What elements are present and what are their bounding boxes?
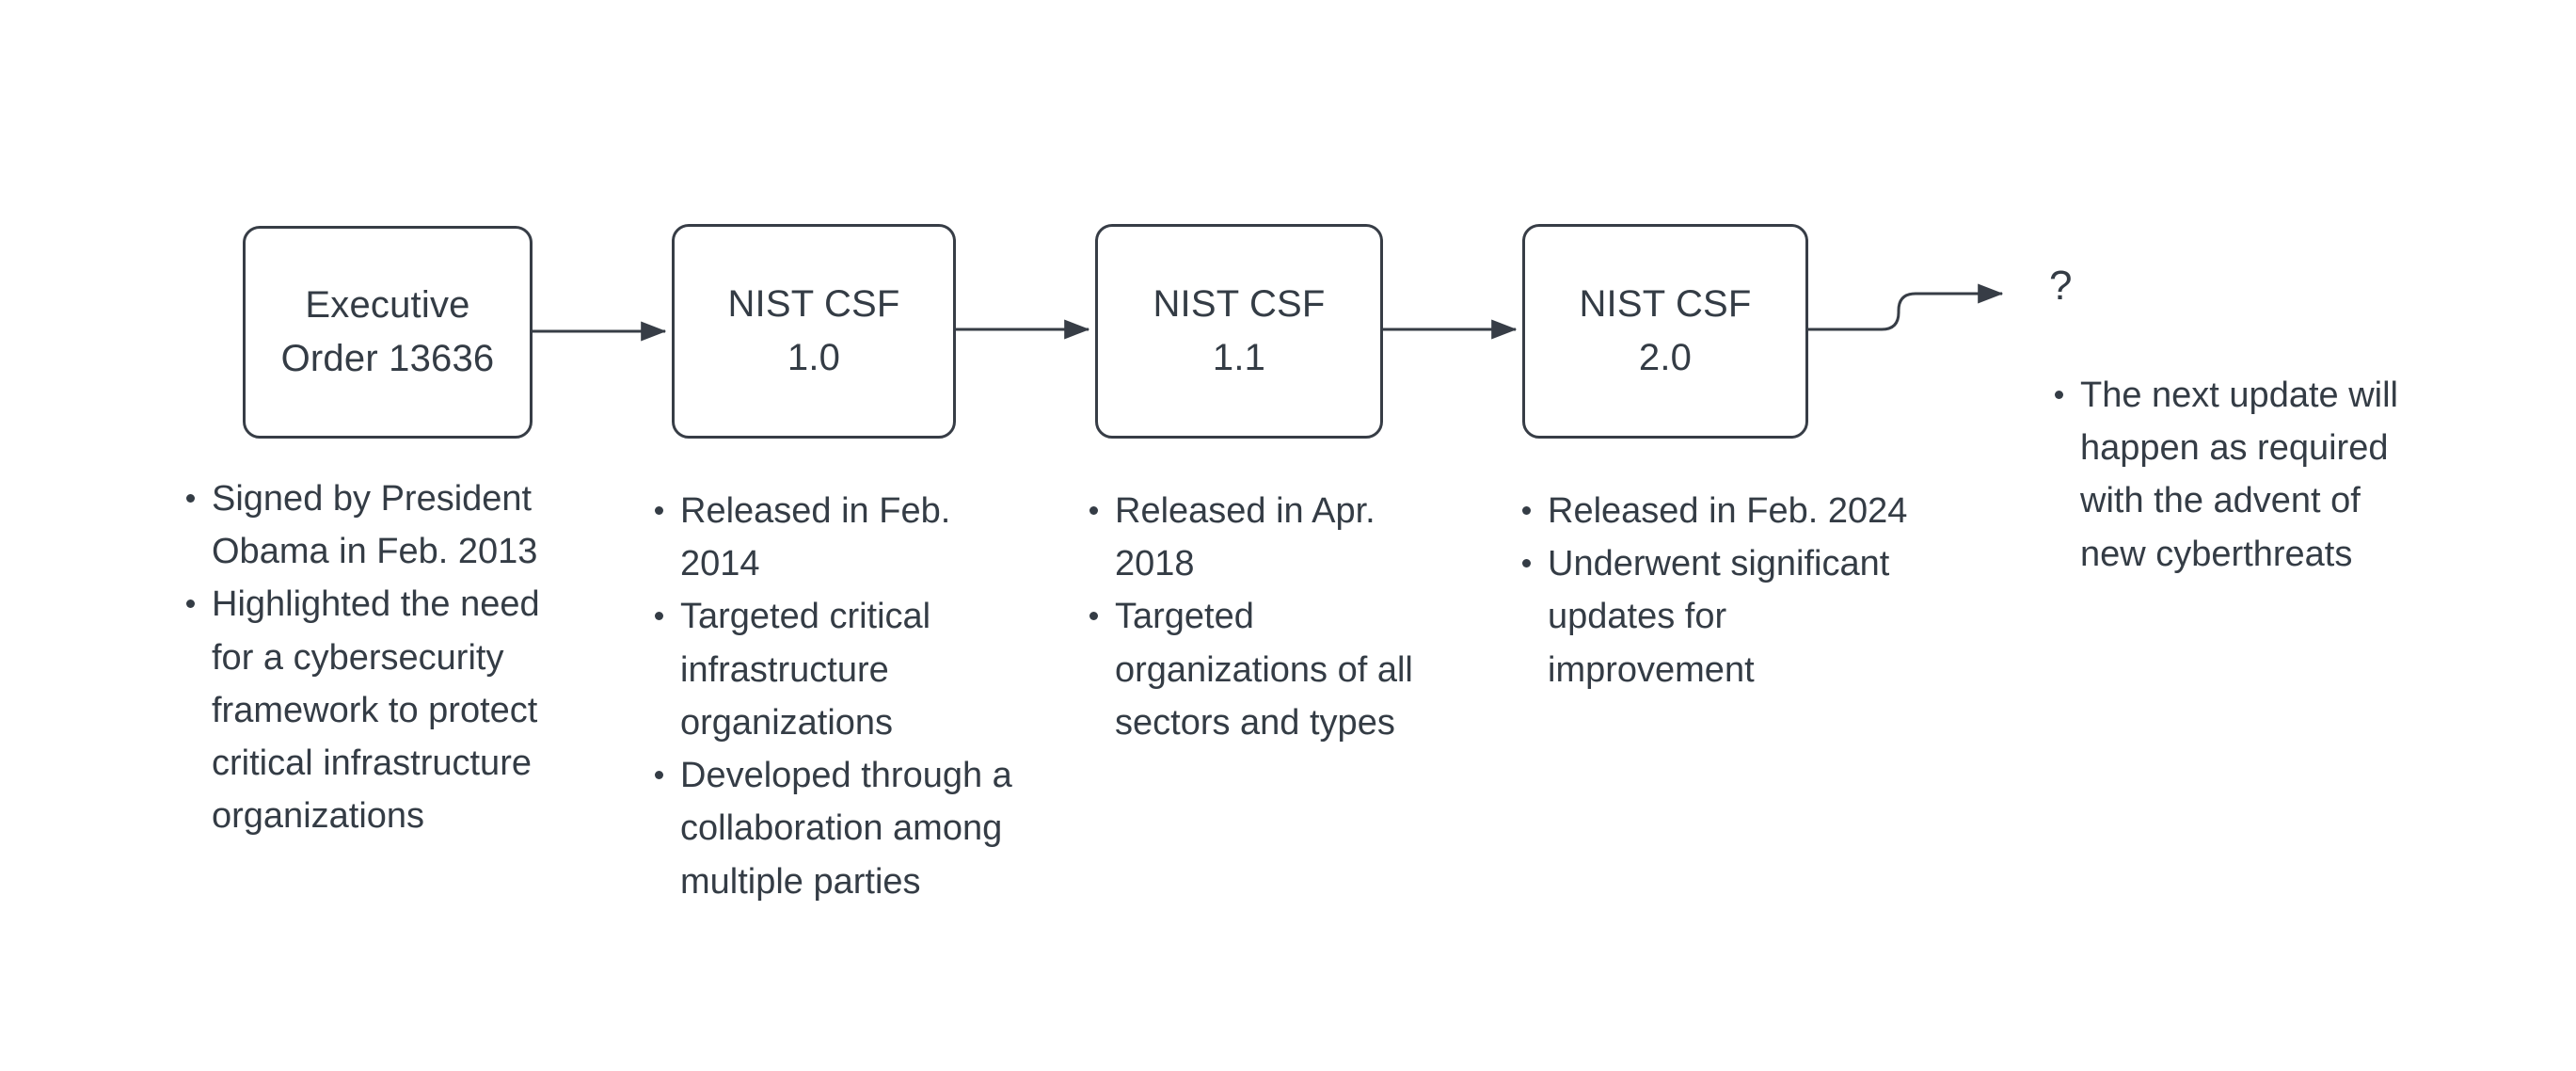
node-nist-csf-2-0[interactable]: NIST CSF 2.0	[1522, 224, 1808, 439]
list-item-text: Targeted organizations of all sectors an…	[1115, 597, 1413, 742]
list-item-text: Developed through a collaboration among …	[680, 756, 1012, 901]
question-mark-icon: ?	[2049, 265, 2072, 307]
list-item-text: Released in Apr. 2018	[1115, 491, 1375, 583]
list-item: Underwent significant updates for improv…	[1517, 537, 1931, 696]
list-item-text: Released in Feb. 2024	[1548, 491, 1907, 531]
flowchart-diagram: Executive Order 13636 NIST CSF 1.0 NIST …	[0, 0, 2576, 1071]
list-item: Developed through a collaboration among …	[649, 749, 1037, 908]
notes-nist-csf-1-0: Released in Feb. 2014 Targeted critical …	[649, 485, 1037, 908]
list-item: Signed by President Obama in Feb. 2013	[181, 472, 576, 578]
list-item-text: Highlighted the need for a cybersecurity…	[212, 584, 540, 836]
notes-nist-csf-2-0: Released in Feb. 2024 Underwent signific…	[1517, 485, 1931, 696]
node-executive-order-13636[interactable]: Executive Order 13636	[243, 226, 533, 439]
node-label: NIST CSF 1.1	[1139, 278, 1338, 385]
list-item-text: Released in Feb. 2014	[680, 491, 950, 583]
arrow-csf20-to-future	[1808, 294, 2002, 329]
list-item-text: Targeted critical infrastructure organiz…	[680, 597, 930, 742]
node-nist-csf-1-1[interactable]: NIST CSF 1.1	[1095, 224, 1383, 439]
list-item-text: Signed by President Obama in Feb. 2013	[212, 479, 537, 571]
list-item: The next update will happen as required …	[2049, 369, 2425, 581]
list-item: Released in Apr. 2018	[1084, 485, 1460, 590]
notes-nist-csf-1-1: Released in Apr. 2018 Targeted organizat…	[1084, 485, 1460, 749]
list-item: Highlighted the need for a cybersecurity…	[181, 578, 576, 842]
notes-executive-order-13636: Signed by President Obama in Feb. 2013 H…	[181, 472, 576, 843]
list-item-text: The next update will happen as required …	[2080, 376, 2398, 574]
notes-future-update: The next update will happen as required …	[2049, 369, 2425, 581]
list-item: Released in Feb. 2024	[1517, 485, 1931, 537]
node-label: NIST CSF 1.0	[714, 278, 913, 385]
list-item: Targeted organizations of all sectors an…	[1084, 590, 1460, 749]
list-item-text: Underwent significant updates for improv…	[1548, 544, 1889, 689]
node-label: NIST CSF 2.0	[1566, 278, 1764, 385]
node-nist-csf-1-0[interactable]: NIST CSF 1.0	[672, 224, 956, 439]
node-label: Executive Order 13636	[268, 279, 508, 386]
list-item: Released in Feb. 2014	[649, 485, 1037, 590]
list-item: Targeted critical infrastructure organiz…	[649, 590, 1037, 749]
